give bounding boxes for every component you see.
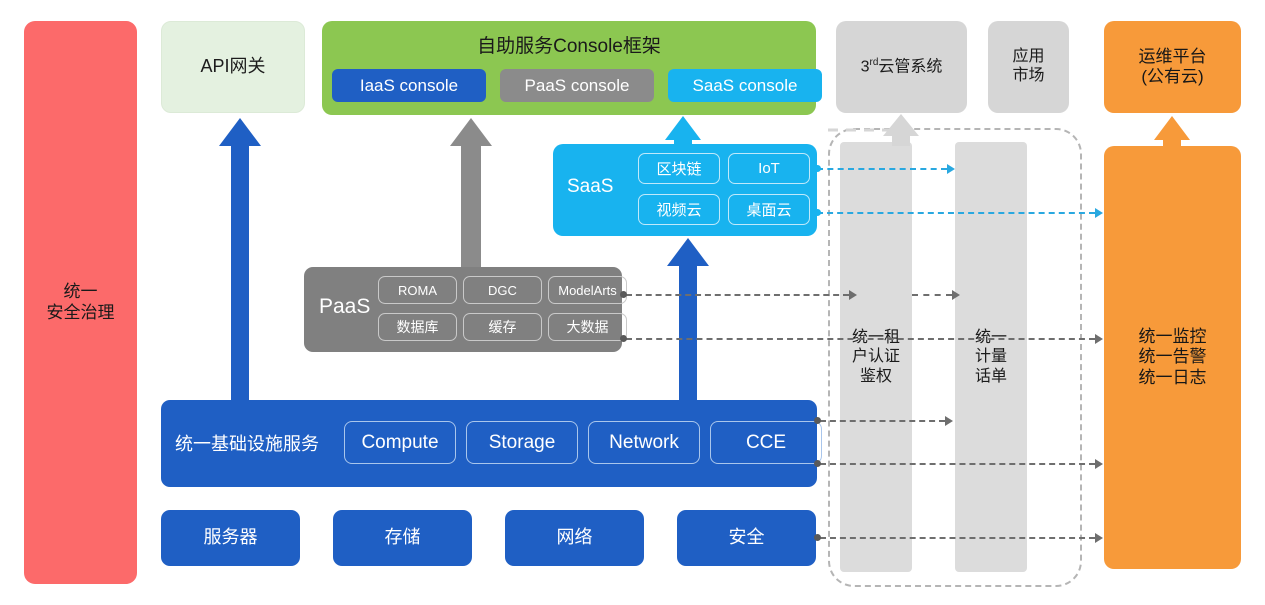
paas-console-chip[interactable]: PaaS console	[500, 69, 654, 102]
infrastructure-label: 统一基础设施服务	[175, 430, 319, 456]
third-party-label: 3rd云管系统	[861, 57, 943, 77]
connector-dot-infra-top	[814, 417, 821, 424]
dashed-connector-auth-to-metering	[912, 294, 952, 296]
paas-chip-modelarts[interactable]: ModelArts	[548, 276, 627, 304]
paas-chip-dgc[interactable]: DGC	[463, 276, 542, 304]
hardware-box-server: 服务器	[161, 510, 300, 566]
paas-chip-bigdata[interactable]: 大数据	[548, 313, 627, 341]
saas-chip-desktop-cloud[interactable]: 桌面云	[728, 194, 810, 225]
unified-tenant-auth-pillar: 统一租 户认证 鉴权	[840, 142, 912, 572]
unified-security-governance-panel: 统一 安全治理	[24, 21, 137, 584]
saas-chip-iot[interactable]: IoT	[728, 153, 810, 184]
connector-dot-saas-bottom	[814, 209, 821, 216]
arrowhead-saas-to-metering	[947, 164, 955, 174]
dashed-connector-saas-to-ops	[817, 212, 1095, 214]
paas-chip-database[interactable]: 数据库	[378, 313, 457, 341]
arrow-ops-panel-to-platform	[1154, 116, 1190, 146]
arrowhead-paas-to-auth	[849, 290, 857, 300]
architecture-diagram: 统一 安全治理 API网关 自助服务Console框架 IaaS console…	[0, 0, 1265, 605]
unified-infrastructure-box: 统一基础设施服务 Compute Storage Network CCE	[161, 400, 817, 487]
hardware-box-security: 安全	[677, 510, 816, 566]
dashed-connector-infra-to-auth	[820, 420, 945, 422]
arrow-paas-to-console	[450, 118, 492, 267]
api-gateway-box: API网关	[161, 21, 305, 113]
infra-chip-compute[interactable]: Compute	[344, 421, 456, 464]
unified-metering-billing-pillar: 统一 计量 话单	[955, 142, 1027, 572]
arrowhead-saas-to-ops	[1095, 208, 1103, 218]
infra-chip-cce[interactable]: CCE	[710, 421, 822, 464]
arrow-infra-to-saas	[667, 238, 709, 400]
ops-unified-panel: 统一监控 统一告警 统一日志	[1104, 146, 1241, 569]
saas-console-chip[interactable]: SaaS console	[668, 69, 822, 102]
arrow-saas-to-console	[665, 116, 701, 146]
paas-layer-label: PaaS	[319, 295, 370, 319]
dashed-connector-paas-to-ops	[626, 338, 1095, 340]
app-market-box: 应用 市场	[988, 21, 1069, 113]
arrowhead-hardware-to-ops	[1095, 533, 1103, 543]
saas-layer-box: SaaS 区块链 IoT 视频云 桌面云	[553, 144, 817, 236]
ops-platform-box: 运维平台 (公有云)	[1104, 21, 1241, 113]
dashed-connector-infra-to-ops	[820, 463, 1095, 465]
saas-chip-video-cloud[interactable]: 视频云	[638, 194, 720, 225]
console-frame-title: 自助服务Console框架	[322, 31, 816, 58]
arrowhead-paas-to-ops	[1095, 334, 1103, 344]
connector-dot-paas-bottom	[620, 335, 627, 342]
infra-chip-storage[interactable]: Storage	[466, 421, 578, 464]
arrowhead-infra-to-ops	[1095, 459, 1103, 469]
iaas-console-chip[interactable]: IaaS console	[332, 69, 486, 102]
connector-dot-saas-top	[814, 165, 821, 172]
arrow-infra-to-api-gateway	[219, 118, 261, 400]
dashed-connector-saas-to-metering	[817, 168, 947, 170]
third-party-cloud-management-box: 3rd云管系统	[836, 21, 967, 113]
connector-dot-paas-top	[620, 291, 627, 298]
hardware-box-storage: 存储	[333, 510, 472, 566]
arrowhead-infra-to-auth	[945, 416, 953, 426]
dashed-connector-paas-to-auth	[626, 294, 849, 296]
self-service-console-frame: 自助服务Console框架 IaaS console PaaS console …	[322, 21, 816, 115]
paas-chip-roma[interactable]: ROMA	[378, 276, 457, 304]
saas-chip-blockchain[interactable]: 区块链	[638, 153, 720, 184]
paas-layer-box: PaaS ROMA DGC ModelArts 数据库 缓存 大数据	[304, 267, 622, 352]
paas-chip-cache[interactable]: 缓存	[463, 313, 542, 341]
infra-chip-network[interactable]: Network	[588, 421, 700, 464]
connector-dot-hardware	[814, 534, 821, 541]
dashed-connector-hardware-to-ops	[820, 537, 1095, 539]
connector-dot-infra-bottom	[814, 460, 821, 467]
saas-layer-label: SaaS	[567, 176, 613, 198]
arrowhead-auth-to-metering	[952, 290, 960, 300]
hardware-box-network: 网络	[505, 510, 644, 566]
